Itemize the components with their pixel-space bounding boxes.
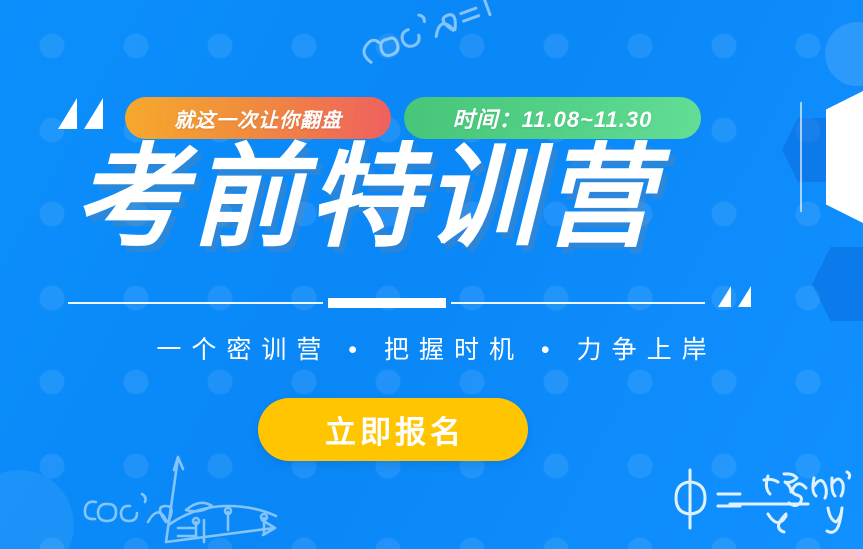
banner-content: 就这一次让你翻盘 时间：11.08~11.30 考前特训营 一个密训营 • 把握… <box>0 0 863 549</box>
divider-rule-left <box>68 302 323 304</box>
badge-date: 时间：11.08~11.30 <box>404 97 701 139</box>
quote-mark-close-icon <box>718 286 751 307</box>
subtitle: 一个密训营 • 把握时机 • 力争上岸 <box>0 330 863 366</box>
divider-rule-right <box>451 302 706 304</box>
promo-banner: 就这一次让你翻盘 时间：11.08~11.30 考前特训营 一个密训营 • 把握… <box>0 0 863 549</box>
signup-button[interactable]: 立即报名 <box>258 398 528 461</box>
badge-offer: 就这一次让你翻盘 <box>125 97 391 139</box>
divider-center-bar <box>328 298 446 308</box>
badge-row: 就这一次让你翻盘 时间：11.08~11.30 <box>125 97 701 139</box>
page-title: 考前特训营 <box>74 142 659 254</box>
divider <box>68 297 705 309</box>
quote-mark-open-icon <box>58 98 103 129</box>
